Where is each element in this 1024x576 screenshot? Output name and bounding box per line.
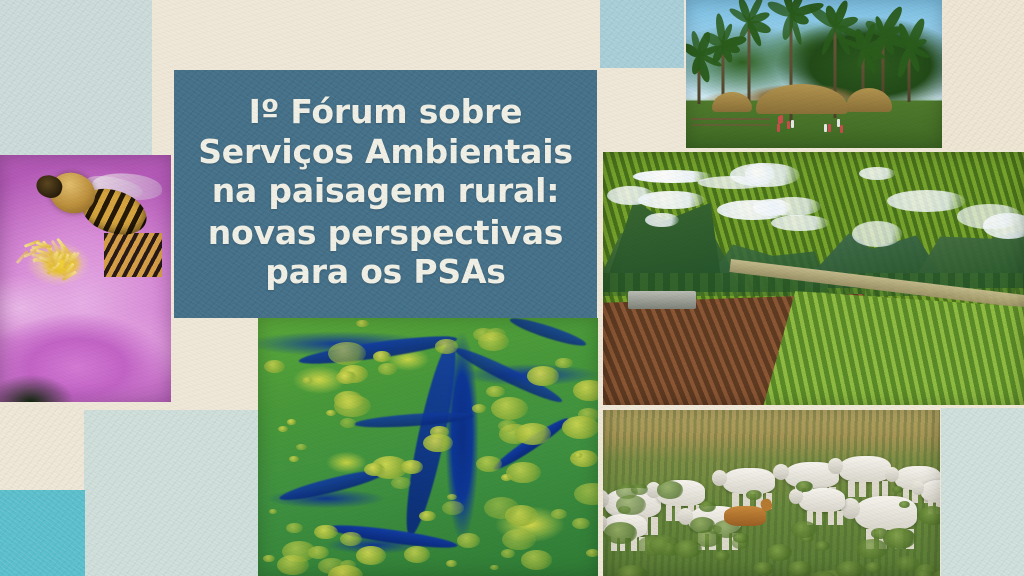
tree-canopy-clump	[435, 339, 458, 353]
tree-canopy-clump	[457, 533, 480, 548]
title-line-1: Iº Fórum sobre	[188, 92, 583, 132]
block-mint-top-left	[0, 0, 152, 158]
cloud	[887, 190, 966, 212]
tree-canopy-clump	[289, 456, 298, 462]
cattle-figure	[839, 456, 891, 482]
poster-title: Iº Fórum sobre Serviços Ambientais na pa…	[188, 92, 583, 292]
cloud	[771, 215, 829, 231]
fence-rail	[692, 124, 770, 126]
pasture-shrub	[883, 528, 916, 549]
pasture-shrub	[604, 522, 638, 544]
tree-canopy-clump	[326, 410, 336, 416]
pasture-shrub	[857, 539, 888, 559]
farm-shed	[628, 291, 695, 309]
pasture-shrub	[796, 481, 813, 492]
cloud	[645, 213, 678, 227]
title-line-3: na paisagem rural:	[188, 171, 583, 211]
pasture-shrub	[892, 486, 903, 493]
deer-figure	[724, 506, 766, 526]
pasture-shrub	[836, 561, 865, 576]
photo-palm-village	[686, 0, 942, 148]
cattle-leg	[666, 505, 672, 521]
poster-canvas: Iº Fórum sobre Serviços Ambientais na pa…	[0, 0, 1024, 576]
pasture-shrub	[865, 562, 882, 573]
pasture-shrub	[616, 495, 646, 515]
tree-canopy-clump	[573, 380, 598, 400]
cattle-leg	[651, 517, 658, 535]
title-line-2: Serviços Ambientais	[188, 132, 583, 172]
tree-canopy-clump	[447, 494, 457, 500]
pasture-shrub	[767, 544, 793, 560]
tree-canopy-clump	[340, 532, 362, 546]
cloud	[852, 221, 902, 247]
person-figure	[777, 124, 780, 132]
tree-canopy-clump	[515, 423, 550, 445]
tree-canopy-clump	[586, 549, 598, 557]
pasture-shrub	[631, 484, 648, 495]
tree-canopy-clump	[356, 546, 386, 565]
tree-canopy-clump	[527, 366, 559, 386]
pasture-shrub	[657, 481, 684, 498]
tree-canopy-clump	[340, 418, 356, 428]
tree-canopy-clump	[314, 525, 338, 540]
tree-canopy-clump	[419, 511, 435, 521]
tree-canopy-clump	[404, 546, 431, 563]
person-figure	[840, 125, 843, 133]
person-figure	[824, 124, 827, 132]
block-mint-bottom-left	[82, 410, 278, 576]
tree-canopy-clump	[562, 416, 598, 439]
tree-canopy-clump	[551, 509, 567, 519]
title-line-5: para os PSAs	[188, 252, 583, 292]
tree-canopy-clump	[356, 320, 368, 328]
tree-canopy-clump	[378, 363, 397, 375]
person-figure	[778, 116, 781, 124]
photo-bee-on-flower	[0, 155, 171, 402]
pasture-shrub	[918, 506, 940, 525]
person-figure	[837, 119, 840, 127]
pasture-shrub	[791, 521, 817, 538]
tree-canopy-clump	[364, 463, 385, 476]
tree-canopy-clump	[442, 501, 464, 515]
pasture-shrub	[674, 540, 703, 558]
title-line-4: novas perspectivas	[188, 213, 583, 253]
tree-canopy-clump	[278, 426, 288, 432]
tree-canopy-clump	[490, 565, 499, 571]
tree-canopy-clump	[336, 371, 357, 384]
tree-canopy-clump	[476, 456, 502, 472]
block-light-blue-top	[600, 0, 684, 68]
photo-aerial-wetland	[258, 318, 598, 576]
block-cream-top-right	[941, 0, 1024, 150]
cattle-leg	[816, 511, 822, 525]
cloud	[957, 204, 1022, 228]
tree-canopy-clump	[506, 462, 540, 483]
tree-canopy-clump	[484, 497, 520, 519]
photo-mountain-valley-farmland	[603, 152, 1024, 405]
palm-tree	[748, 18, 750, 106]
tree-canopy-clump	[287, 419, 296, 424]
tree-canopy-clump	[334, 395, 371, 418]
tree-canopy-clump	[521, 550, 552, 569]
tree-canopy-clump	[472, 404, 486, 413]
cattle-leg	[848, 481, 855, 497]
block-cream-mid-left	[0, 406, 84, 492]
tree-canopy-clump	[478, 332, 509, 351]
cattle-leg	[859, 481, 866, 497]
pasture-shrub	[699, 501, 716, 512]
cloud	[638, 191, 705, 209]
block-turquoise-corner	[0, 490, 85, 576]
green-crop-rows	[763, 291, 1024, 405]
tree-canopy-clump	[423, 434, 452, 452]
stamen	[31, 245, 47, 248]
cattle-leg	[837, 511, 843, 525]
title-panel: Iº Fórum sobre Serviços Ambientais na pa…	[174, 70, 597, 318]
palm-tree	[698, 52, 700, 104]
tree-canopy-clump	[286, 523, 302, 533]
cattle-leg	[872, 481, 879, 497]
cattle-leg	[828, 511, 834, 525]
person-figure	[787, 121, 790, 129]
person-figure	[791, 120, 794, 128]
tree-canopy-clump	[446, 560, 457, 567]
tree-canopy-clump	[555, 358, 573, 369]
pasture-shrub	[714, 551, 730, 561]
block-mint-bottom-right	[941, 408, 1024, 576]
tree-canopy-clump	[572, 518, 590, 529]
fence-rail	[692, 118, 770, 120]
tree-canopy-clump	[328, 342, 366, 365]
cattle-leg	[882, 481, 889, 497]
cattle-figure	[921, 480, 940, 502]
tree-canopy-clump	[264, 360, 285, 373]
photo-cattle-pasture	[603, 410, 940, 576]
palm-tree	[908, 44, 910, 102]
pasture-shrub	[788, 561, 812, 576]
tree-canopy-clump	[401, 460, 423, 474]
